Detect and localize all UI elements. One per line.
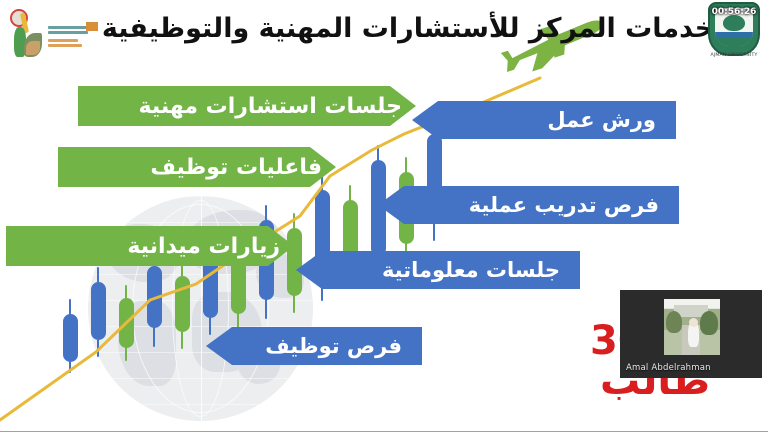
banner-workshops: ورش عمل <box>412 101 676 139</box>
logo-wordmark <box>48 26 100 47</box>
banner-label: فرص تدريب عملية <box>394 193 659 217</box>
banner-job-opportunities: فرص توظيف <box>206 327 422 365</box>
banner-label: زيارات ميدانية <box>40 234 280 259</box>
participant-video-tile[interactable]: Amal Abdelrahman <box>620 290 762 378</box>
banner-career-consultation-sessions: جلسات استشارات مهنية <box>78 86 416 126</box>
presentation-slide: خدمات المركز للأستشارات المهنية والتوظيف… <box>0 0 768 432</box>
banner-label: فاعليات توظيف <box>92 155 322 180</box>
session-timer: 00:56:26 <box>712 7 757 17</box>
participant-name-label: Amal Abdelrahman <box>626 363 711 373</box>
banner-label: جلسات استشارات مهنية <box>112 94 402 119</box>
participant-video-feed <box>664 299 720 355</box>
logo-mark-icon <box>8 11 44 61</box>
banner-practical-training-opportunities: فرص تدريب عملية <box>378 186 679 224</box>
banner-label: فرص توظيف <box>222 334 402 358</box>
banner-label: ورش عمل <box>428 108 656 132</box>
career-development-center-logo <box>8 8 104 64</box>
logo-caption: AJMAN UNIVERSITY <box>708 53 760 58</box>
banner-field-visits: زيارات ميدانية <box>6 226 294 266</box>
banner-employment-events: فاعليات توظيف <box>58 147 336 187</box>
banner-information-sessions: جلسات معلوماتية <box>296 251 580 289</box>
ajman-university-logo: 00:56:26 AJMAN UNIVERSITY <box>708 2 760 56</box>
slide-title: خدمات المركز للأستشارات المهنية والتوظيف… <box>108 6 708 50</box>
banner-label: جلسات معلوماتية <box>312 258 560 282</box>
